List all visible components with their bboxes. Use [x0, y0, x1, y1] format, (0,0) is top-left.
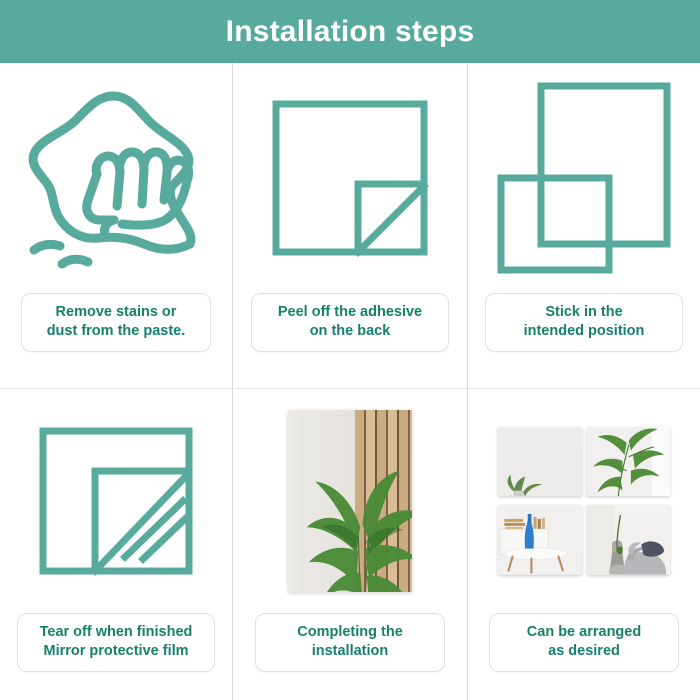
square-peel-corner-icon [270, 98, 430, 258]
step-4-illustration [0, 389, 232, 613]
step-card-4[interactable]: Tear off when finished Mirror protective… [0, 389, 232, 700]
mirror-panel-bottom-left [498, 505, 582, 575]
panel-reflection-2 [587, 427, 671, 497]
step-5-label: Completing the installation [255, 613, 445, 672]
mirror-panel-top-right [587, 427, 671, 497]
step-card-1[interactable]: Remove stains or dust from the paste. [0, 63, 232, 388]
arranged-mirror-panels-photo [498, 427, 670, 575]
steps-grid: Remove stains or dust from the paste. Pe… [0, 63, 700, 700]
step-4-label: Tear off when finished Mirror protective… [17, 613, 215, 672]
page-title: Installation steps [226, 17, 475, 47]
step-6-photo-area [468, 389, 700, 613]
mirror-panel-bottom-right [587, 505, 671, 575]
photo-palm-plant [298, 468, 412, 592]
step-3-illustration [468, 63, 700, 293]
overlapping-squares-icon [494, 78, 674, 278]
mirror-panel-top-left [498, 427, 582, 497]
step-card-6[interactable]: Can be arranged as desired [468, 389, 700, 700]
step-6-label: Can be arranged as desired [489, 613, 679, 672]
step-card-3[interactable]: Stick in the intended position [468, 63, 700, 388]
panel-reflection-1 [498, 427, 582, 497]
panel-reflection-3 [498, 505, 582, 575]
hand-wiping-cloth-icon [18, 78, 214, 278]
step-card-2[interactable]: Peel off the adhesive on the back [233, 63, 467, 388]
installation-steps-infographic: Installation steps [0, 0, 700, 700]
step-1-illustration [0, 63, 232, 293]
mirror-protective-film-icon [37, 425, 195, 577]
step-1-label: Remove stains or dust from the paste. [21, 293, 211, 352]
step-2-label: Peel off the adhesive on the back [251, 293, 449, 352]
step-card-5[interactable]: Completing the installation [233, 389, 467, 700]
installed-mirror-photo [288, 410, 412, 592]
header-banner: Installation steps [0, 0, 700, 63]
panel-reflection-4 [587, 505, 671, 575]
step-3-label: Stick in the intended position [485, 293, 683, 352]
step-2-illustration [233, 63, 467, 293]
step-5-photo-area [233, 389, 467, 613]
